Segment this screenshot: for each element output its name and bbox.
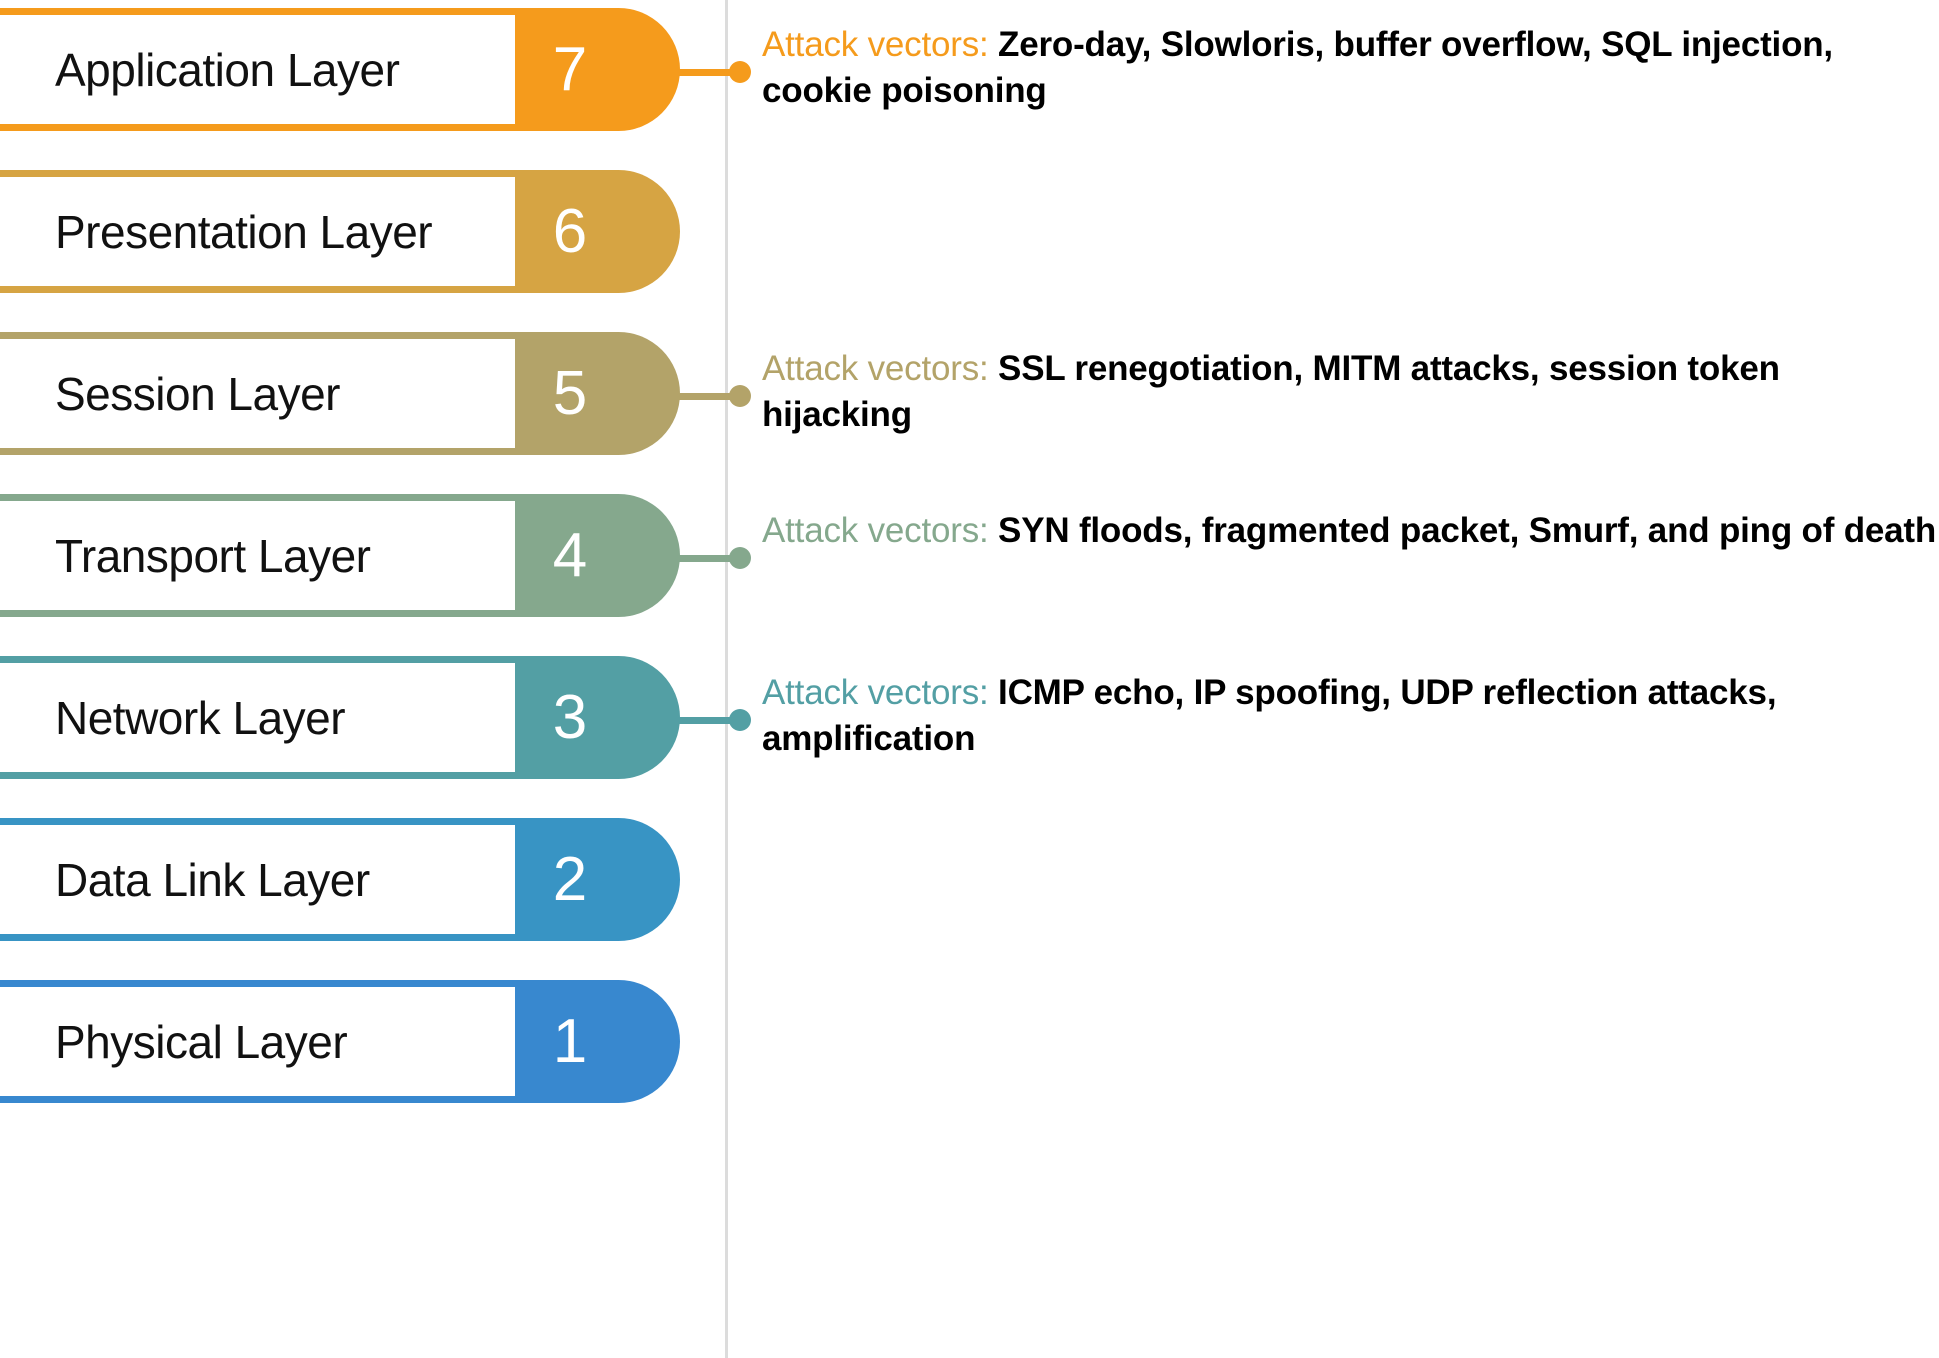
layer-label-panel: Presentation Layer xyxy=(0,177,515,286)
layer-label: Physical Layer xyxy=(55,1015,347,1069)
attack-vectors-label: Attack vectors: xyxy=(762,25,989,64)
layer-pill[interactable]: Transport Layer4 xyxy=(0,494,680,617)
annotation-connector-dot xyxy=(729,547,751,569)
layer-number: 2 xyxy=(515,818,625,941)
layer-label-panel: Transport Layer xyxy=(0,501,515,610)
annotation-text: Attack vectors: SYN floods, fragmented p… xyxy=(762,508,1937,554)
layer-row[interactable]: Application Layer7 xyxy=(0,8,680,131)
attack-vectors-body: SYN floods, fragmented packet, Smurf, an… xyxy=(989,511,1937,550)
layer-pill[interactable]: Presentation Layer6 xyxy=(0,170,680,293)
layer-label: Data Link Layer xyxy=(55,853,370,907)
layer-label-panel: Network Layer xyxy=(0,663,515,772)
layer-label-panel: Physical Layer xyxy=(0,987,515,1096)
layer-row[interactable]: Data Link Layer2 xyxy=(0,818,680,941)
layer-label: Transport Layer xyxy=(55,529,371,583)
attack-vectors-label: Attack vectors: xyxy=(762,349,989,388)
layer-label: Network Layer xyxy=(55,691,345,745)
annotation-connector-dot xyxy=(729,385,751,407)
annotation-connector-line xyxy=(655,717,740,724)
annotation-text: Attack vectors: ICMP echo, IP spoofing, … xyxy=(762,670,1937,761)
vertical-divider xyxy=(725,0,728,1358)
annotation-text: Attack vectors: Zero-day, Slowloris, buf… xyxy=(762,22,1937,113)
layer-row[interactable]: Presentation Layer6 xyxy=(0,170,680,293)
annotation-connector-dot xyxy=(729,709,751,731)
layer-row[interactable]: Transport Layer4 xyxy=(0,494,680,617)
osi-diagram: Application Layer7Presentation Layer6Ses… xyxy=(0,0,1939,1358)
layer-number: 6 xyxy=(515,170,625,293)
layer-pill[interactable]: Application Layer7 xyxy=(0,8,680,131)
layer-number: 7 xyxy=(515,8,625,131)
layer-label: Session Layer xyxy=(55,367,340,421)
layer-row[interactable]: Session Layer5 xyxy=(0,332,680,455)
layer-number: 5 xyxy=(515,332,625,455)
attack-vectors-label: Attack vectors: xyxy=(762,673,989,712)
layer-label: Presentation Layer xyxy=(55,205,432,259)
annotation-connector-dot xyxy=(729,61,751,83)
layer-pill[interactable]: Physical Layer1 xyxy=(0,980,680,1103)
annotation-connector-line xyxy=(655,393,740,400)
annotation-connector-line xyxy=(655,555,740,562)
layer-row[interactable]: Physical Layer1 xyxy=(0,980,680,1103)
layer-number: 1 xyxy=(515,980,625,1103)
layer-label-panel: Application Layer xyxy=(0,15,515,124)
annotation-connector-line xyxy=(655,69,740,76)
annotation-text: Attack vectors: SSL renegotiation, MITM … xyxy=(762,346,1937,437)
layer-label-panel: Session Layer xyxy=(0,339,515,448)
layer-row[interactable]: Network Layer3 xyxy=(0,656,680,779)
layer-label-panel: Data Link Layer xyxy=(0,825,515,934)
layer-label: Application Layer xyxy=(55,43,399,97)
layer-pill[interactable]: Network Layer3 xyxy=(0,656,680,779)
layer-pill[interactable]: Session Layer5 xyxy=(0,332,680,455)
layer-pill[interactable]: Data Link Layer2 xyxy=(0,818,680,941)
layer-number: 3 xyxy=(515,656,625,779)
layer-number: 4 xyxy=(515,494,625,617)
attack-vectors-label: Attack vectors: xyxy=(762,511,989,550)
